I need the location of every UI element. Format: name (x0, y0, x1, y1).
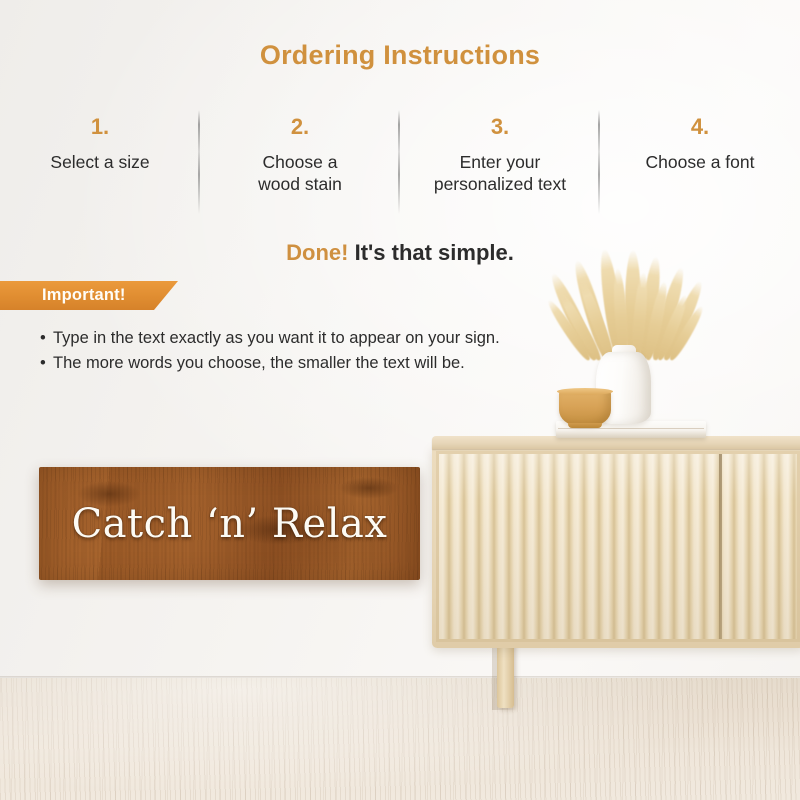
fluted-sideboard (432, 436, 800, 648)
wooden-bowl-rim (557, 388, 613, 395)
important-ribbon-label: Important! (42, 286, 126, 305)
bullet-marker: • (40, 326, 53, 351)
step-4: 4.Choose a font (600, 116, 800, 220)
done-line: Done! It's that simple. (0, 240, 800, 266)
sideboard-panel-gap (719, 454, 722, 639)
sideboard-leg (497, 640, 514, 708)
bullet-item: •Type in the text exactly as you want it… (40, 326, 660, 351)
floor-light-sheen (0, 678, 800, 800)
step-label: Select a size (0, 152, 200, 174)
sign-text: Catch ‘n’ Relax (39, 467, 420, 580)
bullet-marker: • (40, 351, 53, 376)
done-highlight: Done! (286, 240, 348, 265)
sideboard-flute-shading (439, 454, 797, 639)
step-label: Choose a font (600, 152, 800, 174)
step-label: Choose awood stain (200, 152, 400, 196)
step-number: 2. (200, 116, 400, 138)
wooden-bowl-foot (568, 423, 602, 428)
wooden-bowl (559, 390, 611, 426)
step-number: 1. (0, 116, 200, 138)
personalized-wood-sign: Catch ‘n’ Relax (39, 467, 420, 580)
screenshot-root: Catch ‘n’ Relax Ordering Instructions 1.… (0, 0, 800, 800)
step-1: 1.Select a size (0, 116, 200, 220)
important-ribbon: Important! (0, 281, 178, 310)
bullet-text: Type in the text exactly as you want it … (53, 326, 500, 351)
step-2: 2.Choose awood stain (200, 116, 400, 220)
page-title: Ordering Instructions (0, 40, 800, 71)
important-notes-list: •Type in the text exactly as you want it… (40, 326, 660, 376)
bullet-item: •The more words you choose, the smaller … (40, 351, 660, 376)
step-number: 4. (600, 116, 800, 138)
steps-row: 1.Select a size2.Choose awood stain3.Ent… (0, 116, 800, 220)
bullet-text: The more words you choose, the smaller t… (53, 351, 465, 376)
done-rest: It's that simple. (355, 240, 514, 265)
step-number: 3. (400, 116, 600, 138)
step-label: Enter yourpersonalized text (400, 152, 600, 196)
step-3: 3.Enter yourpersonalized text (400, 116, 600, 220)
